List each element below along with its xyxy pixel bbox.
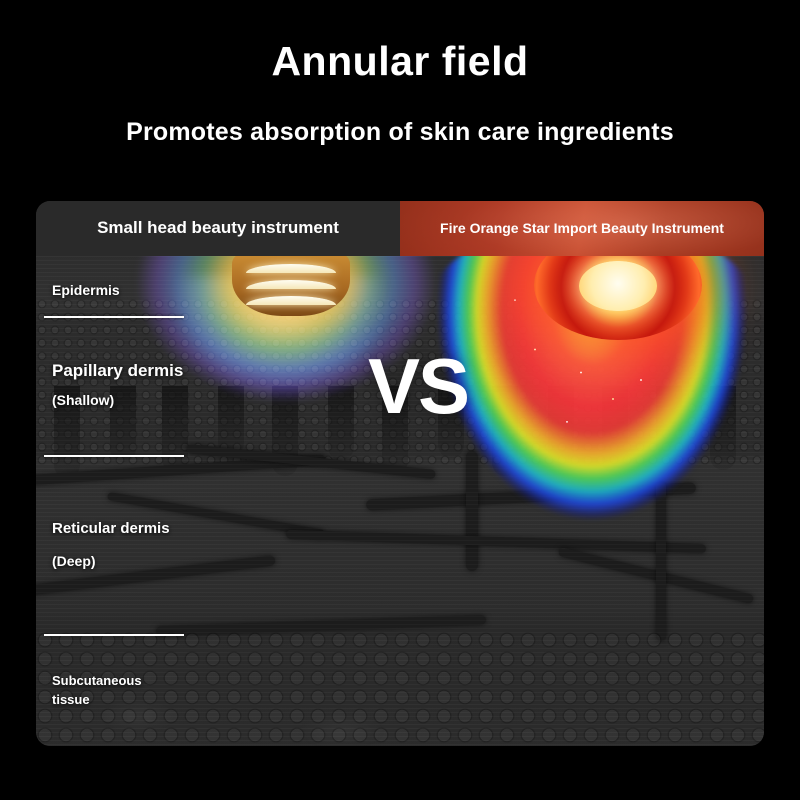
layer-divider-reticular [44, 634, 184, 636]
layer-divider-papillary [44, 455, 184, 457]
vs-label: VS [368, 341, 468, 432]
comparison-panel: Small head beauty instrument Fire Orange… [36, 201, 764, 746]
layer-divider-epidermis [44, 316, 184, 318]
comparison-tabs: Small head beauty instrument Fire Orange… [36, 201, 764, 256]
small-head-device-icon [232, 256, 350, 316]
tab-small-head-beauty-instrument[interactable]: Small head beauty instrument [36, 201, 400, 256]
layer-label-reticular-dermis: Reticular dermis [52, 520, 170, 537]
layer-label-papillary-qualifier: (Shallow) [52, 392, 114, 408]
layer-label-subcutaneous-qualifier: tissue [52, 692, 90, 707]
layer-label-subcutaneous: Subcutaneous [52, 673, 142, 688]
tab-fire-orange-star-import-beauty-instrument[interactable]: Fire Orange Star Import Beauty Instrumen… [400, 201, 764, 256]
skin-cross-section: VS Epidermis Papillary dermis (Shallow) … [36, 256, 764, 746]
layer-label-epidermis: Epidermis [52, 282, 120, 298]
page-title: Annular field [0, 38, 800, 85]
layer-label-papillary-dermis: Papillary dermis [52, 361, 183, 381]
layer-label-reticular-qualifier: (Deep) [52, 553, 96, 569]
subcutaneous-fat-lobules [36, 631, 764, 746]
page-subtitle: Promotes absorption of skin care ingredi… [0, 118, 800, 147]
page-root: Annular field Promotes absorption of ski… [0, 0, 800, 800]
